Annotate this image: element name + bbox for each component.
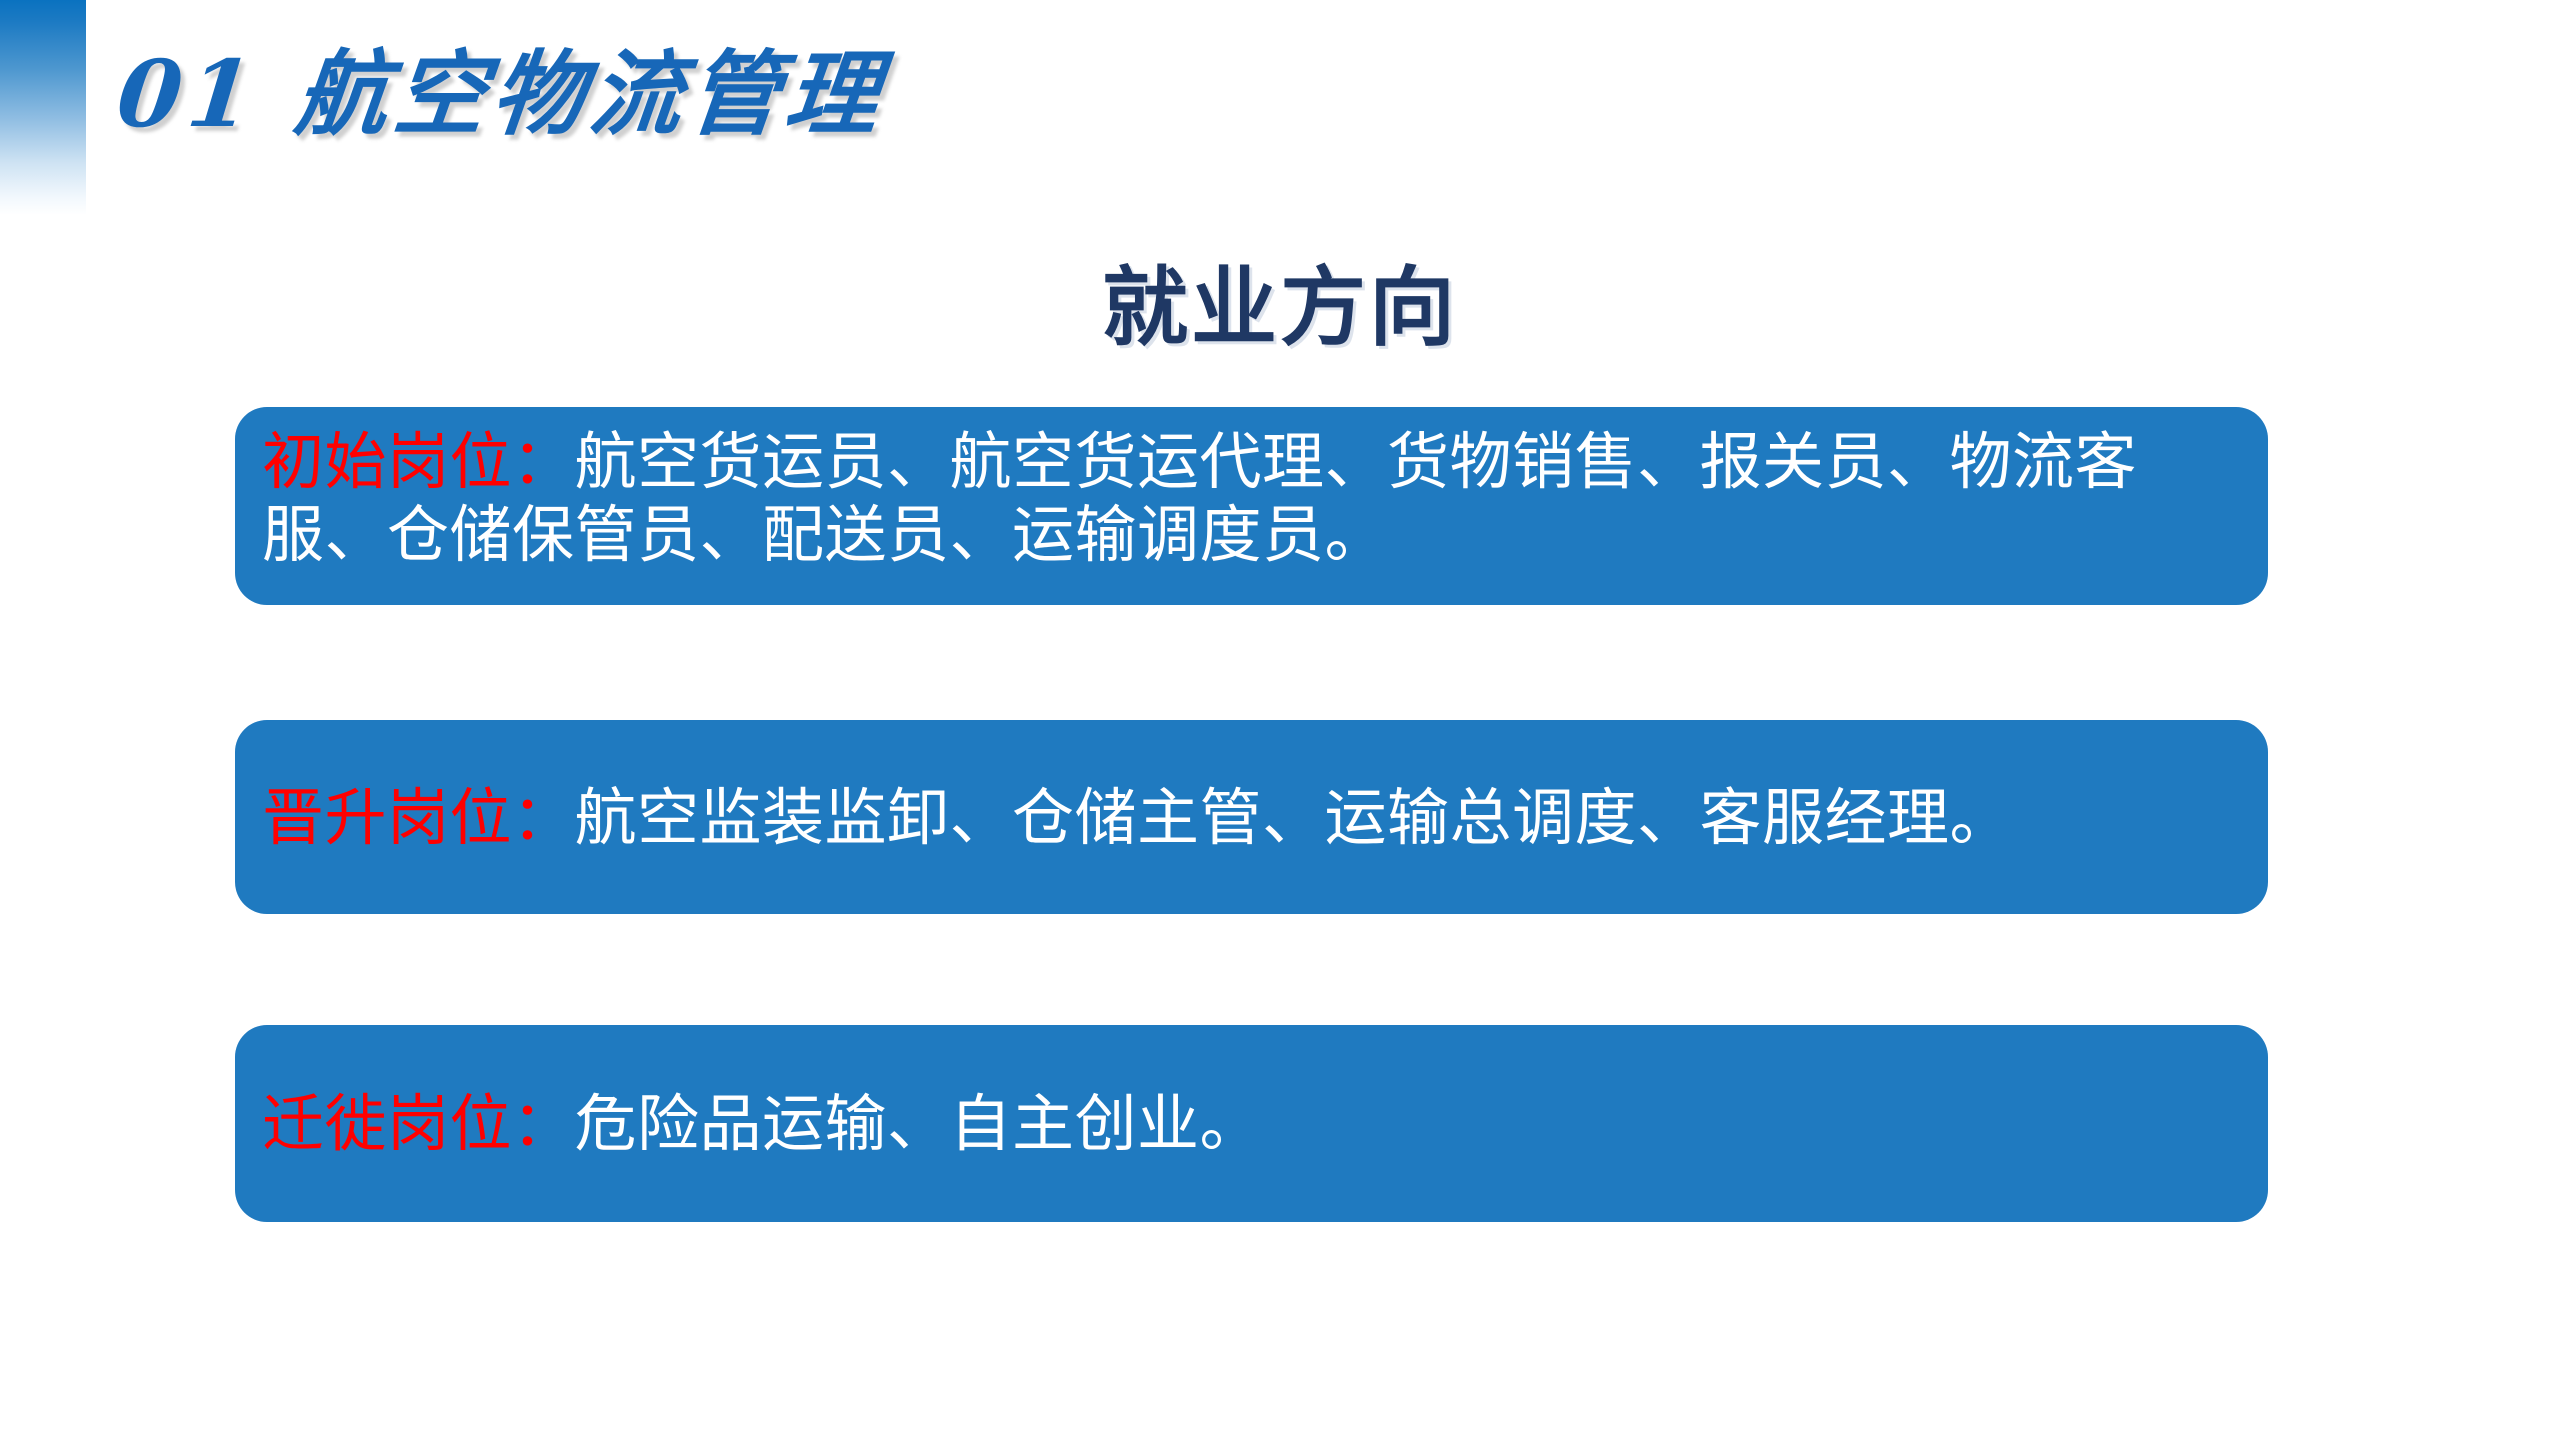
- page-title: 就业方向: [0, 258, 2560, 358]
- card-initial-positions-label: 初始岗位: [262, 425, 512, 498]
- card-transfer-positions-colon: ：: [512, 1087, 575, 1160]
- card-promotion-positions-colon: ：: [512, 781, 575, 854]
- card-promotion-positions[interactable]: 晋升岗位：航空监装监卸、仓储主管、运输总调度、客服经理。: [235, 720, 2268, 914]
- card-transfer-positions-label: 迁徙岗位: [262, 1087, 512, 1160]
- header-title: 01 航空物流管理: [112, 34, 1325, 154]
- card-transfer-positions-body: 危险品运输、自主创业。: [575, 1087, 1263, 1160]
- left-gradient-bar: [0, 0, 86, 215]
- slide-header: 01 航空物流管理: [118, 34, 1318, 164]
- card-promotion-positions-body: 航空监装监卸、仓储主管、运输总调度、客服经理。: [575, 781, 2013, 854]
- card-promotion-positions-text: 晋升岗位：航空监装监卸、仓储主管、运输总调度、客服经理。: [262, 781, 2012, 854]
- card-initial-positions-colon: ：: [512, 425, 575, 498]
- card-transfer-positions-text: 迁徙岗位：危险品运输、自主创业。: [262, 1087, 1262, 1160]
- card-initial-positions[interactable]: 初始岗位：航空货运员、航空货运代理、货物销售、报关员、物流客服、仓储保管员、配送…: [235, 407, 2268, 605]
- card-promotion-positions-label: 晋升岗位: [262, 781, 512, 854]
- card-initial-positions-text: 初始岗位：航空货运员、航空货运代理、货物销售、报关员、物流客服、仓储保管员、配送…: [262, 425, 2242, 571]
- slide-canvas: 01 航空物流管理 就业方向 初始岗位：航空货运员、航空货运代理、货物销售、报关…: [0, 0, 2560, 1440]
- card-transfer-positions[interactable]: 迁徙岗位：危险品运输、自主创业。: [235, 1025, 2268, 1222]
